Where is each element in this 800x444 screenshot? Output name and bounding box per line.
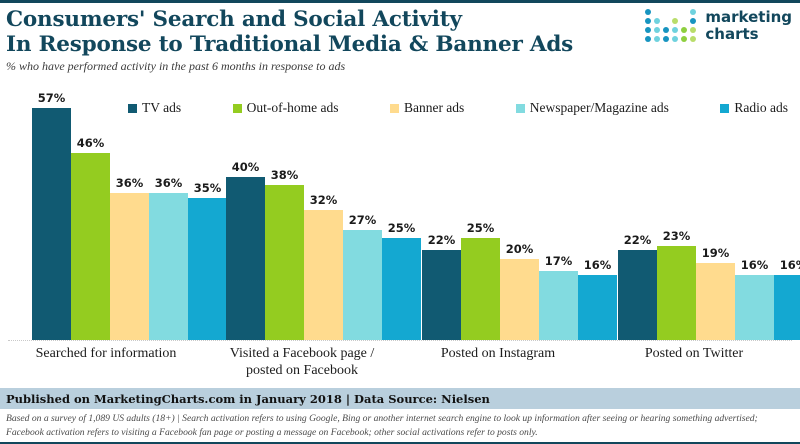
bar-slot: 16% (735, 87, 774, 340)
logo-dot-3-3 (672, 36, 678, 42)
logo-dot-1-0 (645, 18, 651, 24)
bar-group-2: 22%25%20%17%16% (400, 87, 596, 340)
logo-word-1: marketing (705, 9, 792, 26)
bar-slot: 57% (32, 87, 71, 340)
bar-group-inner: 22%25%20%17%16% (422, 87, 617, 340)
chart-subtitle: % who have performed activity in the pas… (6, 59, 345, 74)
bar-slot: 19% (696, 87, 735, 340)
bar[interactable] (226, 177, 265, 340)
bar-groups: 57%46%36%36%35%40%38%32%27%25%22%25%20%1… (8, 87, 792, 340)
bar[interactable] (774, 275, 800, 340)
logo-dot-2-5 (690, 27, 696, 33)
x-axis-labels: Searched for informationVisited a Facebo… (8, 343, 792, 383)
bar[interactable] (500, 259, 539, 340)
logo-dot-3-2 (663, 36, 669, 42)
title-line-2: In Response to Traditional Media & Banne… (6, 32, 646, 57)
publication-band: Published on MarketingCharts.com in Janu… (0, 388, 800, 409)
bar-value-label: 36% (149, 176, 188, 190)
bar[interactable] (343, 230, 382, 340)
logo-dot-1-3 (672, 18, 678, 24)
logo-dot-1-5 (690, 18, 696, 24)
bar-group-0: 57%46%36%36%35% (8, 87, 204, 340)
bar[interactable] (32, 108, 71, 340)
page-title: Consumers' Search and Social Activity In… (6, 7, 646, 57)
bar[interactable] (461, 238, 500, 340)
bar-group-inner: 40%38%32%27%25% (226, 87, 421, 340)
logo-dot-3-1 (654, 36, 660, 42)
logo-dot-1-4 (681, 18, 687, 24)
bar-value-label: 16% (735, 258, 774, 272)
logo-word-2: charts (705, 26, 792, 43)
bar[interactable] (304, 210, 343, 340)
bar-group-inner: 22%23%19%16%16% (618, 87, 800, 340)
bar-value-label: 46% (71, 136, 110, 150)
bar-slot: 17% (539, 87, 578, 340)
bar[interactable] (422, 250, 461, 340)
bar[interactable] (71, 153, 110, 340)
bar-value-label: 57% (32, 91, 71, 105)
x-axis-label-3: Posted on Twitter (596, 343, 792, 383)
x-axis-label-line: Visited a Facebook page / (204, 345, 400, 362)
x-axis-label-0: Searched for information (8, 343, 204, 383)
bar-slot: 22% (618, 87, 657, 340)
logo-dot-2-3 (672, 27, 678, 33)
logo-dot-2-1 (654, 27, 660, 33)
bar-value-label: 23% (657, 229, 696, 243)
footnote: Based on a survey of 1,089 US adults (18… (6, 412, 796, 439)
logo-dot-0-5 (690, 9, 696, 15)
bar[interactable] (149, 193, 188, 340)
dot-matrix-logo-icon (645, 9, 697, 43)
x-axis-label-line: Posted on Twitter (596, 345, 792, 362)
logo-dot-0-1 (654, 9, 660, 15)
logo-dot-2-2 (663, 27, 669, 33)
bar[interactable] (110, 193, 149, 340)
x-axis-label-line: Posted on Instagram (400, 345, 596, 362)
chart-header: Consumers' Search and Social Activity In… (0, 3, 800, 79)
logo-dot-0-4 (681, 9, 687, 15)
bar[interactable] (735, 275, 774, 340)
bar-slot: 46% (71, 87, 110, 340)
x-axis-label-1: Visited a Facebook page /posted on Faceb… (204, 343, 400, 383)
bar-value-label: 16% (774, 258, 800, 272)
publication-text: Published on MarketingCharts.com in Janu… (0, 392, 490, 406)
logo-dot-2-0 (645, 27, 651, 33)
bar-value-label: 40% (226, 160, 265, 174)
bar-slot: 20% (500, 87, 539, 340)
marketing-charts-logo: marketing charts (645, 9, 792, 43)
bar-slot: 23% (657, 87, 696, 340)
bar-value-label: 22% (422, 233, 461, 247)
x-axis-label-2: Posted on Instagram (400, 343, 596, 383)
bar-group-3: 22%23%19%16%16% (596, 87, 792, 340)
bar[interactable] (618, 250, 657, 340)
bar-slot: 36% (149, 87, 188, 340)
bar-slot: 25% (461, 87, 500, 340)
logo-dot-0-0 (645, 9, 651, 15)
chart-page: Consumers' Search and Social Activity In… (0, 0, 800, 444)
bar[interactable] (265, 185, 304, 340)
logo-dot-0-2 (663, 9, 669, 15)
bar-slot: 40% (226, 87, 265, 340)
bar-slot: 27% (343, 87, 382, 340)
bar-value-label: 36% (110, 176, 149, 190)
bar[interactable] (657, 246, 696, 340)
logo-dot-3-5 (690, 36, 696, 42)
bar-value-label: 27% (343, 213, 382, 227)
logo-dot-1-1 (654, 18, 660, 24)
logo-wordmark: marketing charts (705, 9, 792, 43)
bar-slot: 36% (110, 87, 149, 340)
title-line-1: Consumers' Search and Social Activity (6, 7, 646, 32)
bar[interactable] (696, 263, 735, 340)
x-axis-label-line: posted on Facebook (204, 362, 400, 379)
logo-dot-3-4 (681, 36, 687, 42)
axis-baseline (8, 340, 792, 341)
bar-value-label: 25% (461, 221, 500, 235)
bar-value-label: 32% (304, 193, 343, 207)
bar-group-1: 40%38%32%27%25% (204, 87, 400, 340)
bar-value-label: 20% (500, 242, 539, 256)
bar-slot: 16% (774, 87, 800, 340)
bar-slot: 38% (265, 87, 304, 340)
bar-slot: 32% (304, 87, 343, 340)
logo-dot-0-3 (672, 9, 678, 15)
bar-value-label: 22% (618, 233, 657, 247)
logo-dot-1-2 (663, 18, 669, 24)
bar-value-label: 19% (696, 246, 735, 260)
logo-dot-2-4 (681, 27, 687, 33)
bar-slot: 22% (422, 87, 461, 340)
bar[interactable] (539, 271, 578, 340)
logo-dot-3-0 (645, 36, 651, 42)
bar-group-inner: 57%46%36%36%35% (32, 87, 227, 340)
plot-area: 57%46%36%36%35%40%38%32%27%25%22%25%20%1… (0, 87, 800, 341)
bar-value-label: 38% (265, 168, 304, 182)
bar-value-label: 17% (539, 254, 578, 268)
x-axis-label-line: Searched for information (8, 345, 204, 362)
